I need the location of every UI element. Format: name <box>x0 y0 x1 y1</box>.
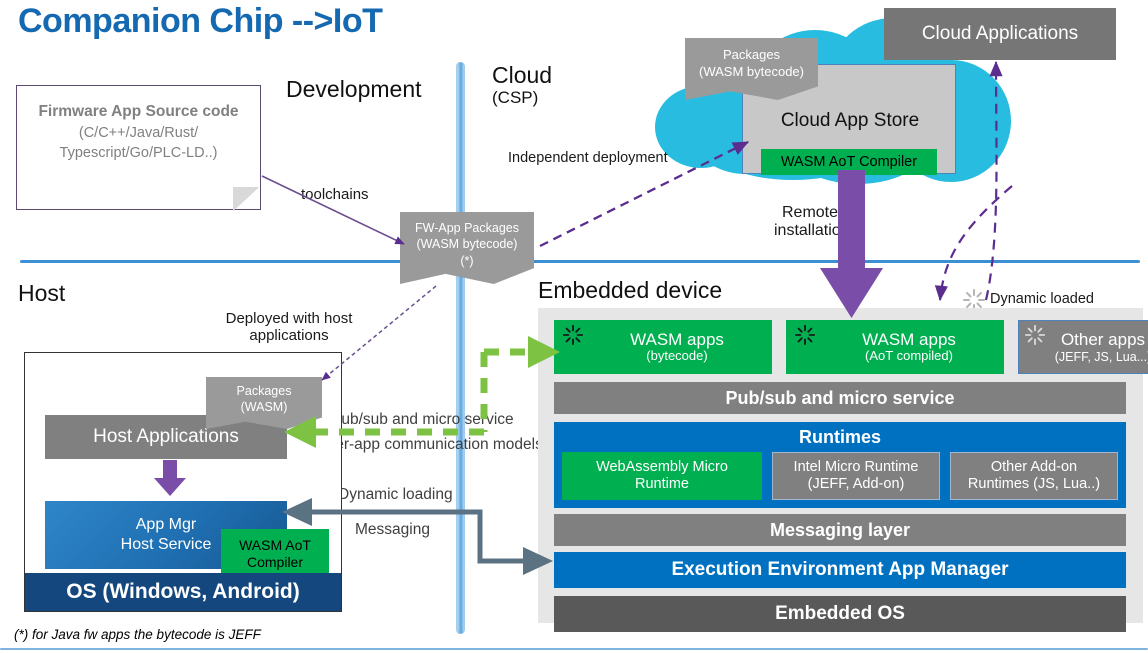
runtime-0-l1: WebAssembly Micro <box>596 459 728 476</box>
embedded-app-2-sub: (JEFF, JS, Lua...) <box>1055 350 1148 364</box>
embedded-app-1-sub: (AoT compiled) <box>862 349 956 364</box>
embedded-app-manager[interactable]: Execution Environment App Manager <box>554 552 1126 588</box>
section-label-embedded: Embedded device <box>538 277 722 304</box>
firmware-box-fold-corner <box>233 187 259 211</box>
section-label-cloud: Cloud (CSP) <box>492 62 552 107</box>
host-packages-line1: Packages <box>206 383 322 399</box>
embedded-messaging-layer[interactable]: Messaging layer <box>554 514 1126 546</box>
host-wasm-aot-compiler-box[interactable]: WASM AoT Compiler <box>221 529 329 579</box>
runtime-1-l1: Intel Micro Runtime <box>794 459 919 476</box>
runtime-webassembly-micro[interactable]: WebAssembly Micro Runtime <box>562 452 762 500</box>
runtime-1-l2: (JEFF, Add-on) <box>794 476 919 493</box>
firmware-source-box[interactable]: Firmware App Source code (C/C++/Java/Rus… <box>16 85 261 210</box>
embedded-runtimes-title: Runtimes <box>554 425 1126 449</box>
host-packages-line2: (WASM) <box>206 399 322 415</box>
embedded-app-wasm-aot[interactable]: WASM apps (AoT compiled) <box>786 320 1004 374</box>
horizontal-divider <box>20 260 1140 263</box>
firmware-title: Firmware App Source code <box>17 102 260 123</box>
page-title: Companion Chip -->IoT <box>18 2 382 41</box>
label-toolchains: toolchains <box>301 186 369 203</box>
cloud-label-main: Cloud <box>492 62 552 88</box>
label-pubsub-micro-service: Pub/sub and micro service <box>331 411 514 429</box>
host-aot-l1: WASM AoT <box>239 537 311 555</box>
embedded-app-1-name: WASM apps <box>862 330 956 350</box>
runtime-2-l1: Other Add-on <box>968 459 1100 476</box>
embedded-runtimes-block: Runtimes WebAssembly Micro Runtime Intel… <box>554 422 1126 508</box>
cloud-packages-line2: (WASM bytecode) <box>685 64 818 81</box>
section-label-development: Development <box>286 76 422 103</box>
runtime-other-addon[interactable]: Other Add-on Runtimes (JS, Lua..) <box>950 452 1118 500</box>
fw-packages-line1: FW-App Packages <box>400 220 534 236</box>
cloud-wasm-aot-compiler-box[interactable]: WASM AoT Compiler <box>761 149 937 175</box>
cloud-packages-line1: Packages <box>685 47 818 64</box>
host-aot-l2: Compiler <box>239 554 311 572</box>
runtime-0-l2: Runtime <box>596 476 728 493</box>
embedded-app-2-burst-icon <box>1024 324 1046 346</box>
firmware-line3: Typescript/Go/PLC-LD..) <box>17 143 260 163</box>
section-label-host: Host <box>18 280 65 307</box>
cloud-packages-callout: Packages (WASM bytecode) <box>685 38 818 100</box>
deployed-line2: applications <box>219 327 359 344</box>
deployed-line1: Deployed with host <box>219 310 359 327</box>
host-appmgr-l1: App Mgr <box>121 515 212 535</box>
label-independent-deployment: Independent deployment <box>508 150 668 166</box>
runtime-intel-micro[interactable]: Intel Micro Runtime (JEFF, Add-on) <box>772 452 940 500</box>
fw-packages-line2: (WASM bytecode) <box>400 236 534 252</box>
arrow-remote-installation <box>820 170 883 318</box>
runtime-2-l2: Runtimes (JS, Lua..) <box>968 476 1100 493</box>
host-os-bar[interactable]: OS (Windows, Android) <box>25 573 341 611</box>
embedded-app-2-name: Other apps <box>1055 330 1148 350</box>
label-dynamic-loading: Dynamic loading <box>338 486 453 504</box>
embedded-pubsub-bar[interactable]: Pub/sub and micro service <box>554 382 1126 414</box>
embedded-device-panel: WASM apps (bytecode) WASM apps (AoT comp… <box>538 308 1143 623</box>
host-packages-callout: Packages (WASM) <box>206 377 322 429</box>
cloud-label-sub: (CSP) <box>492 89 552 107</box>
embedded-app-1-burst-icon <box>794 324 816 346</box>
footnote-text: (*) for Java fw apps the bytecode is JEF… <box>14 627 261 642</box>
remote-line1: Remote <box>774 204 846 222</box>
embedded-app-0-name: WASM apps <box>630 330 724 350</box>
label-inter-app-models: Inter-app communication models <box>318 436 543 454</box>
cloud-applications-box[interactable]: Cloud Applications <box>884 8 1116 60</box>
embedded-app-0-burst-icon <box>562 324 584 346</box>
bottom-divider <box>0 648 1148 650</box>
embedded-app-0-sub: (bytecode) <box>630 349 724 364</box>
cloud-app-store-title: Cloud App Store <box>743 107 957 135</box>
label-remote-installation: Remote installation <box>774 204 846 240</box>
arrow-dynamic-loaded-down <box>940 186 1012 300</box>
embedded-app-wasm-bytecode[interactable]: WASM apps (bytecode) <box>554 320 772 374</box>
legend-dynamic-loaded: Dynamic loaded <box>990 291 1094 307</box>
remote-line2: installation <box>774 222 846 240</box>
fw-app-packages-callout: FW-App Packages (WASM bytecode) (*) <box>400 212 534 284</box>
fw-packages-line3: (*) <box>400 253 534 269</box>
label-messaging: Messaging <box>355 521 430 539</box>
embedded-os[interactable]: Embedded OS <box>554 596 1126 632</box>
host-appmgr-l2: Host Service <box>121 535 212 555</box>
firmware-line2: (C/C++/Java/Rust/ <box>17 123 260 143</box>
label-deployed-with-host: Deployed with host applications <box>219 310 359 344</box>
